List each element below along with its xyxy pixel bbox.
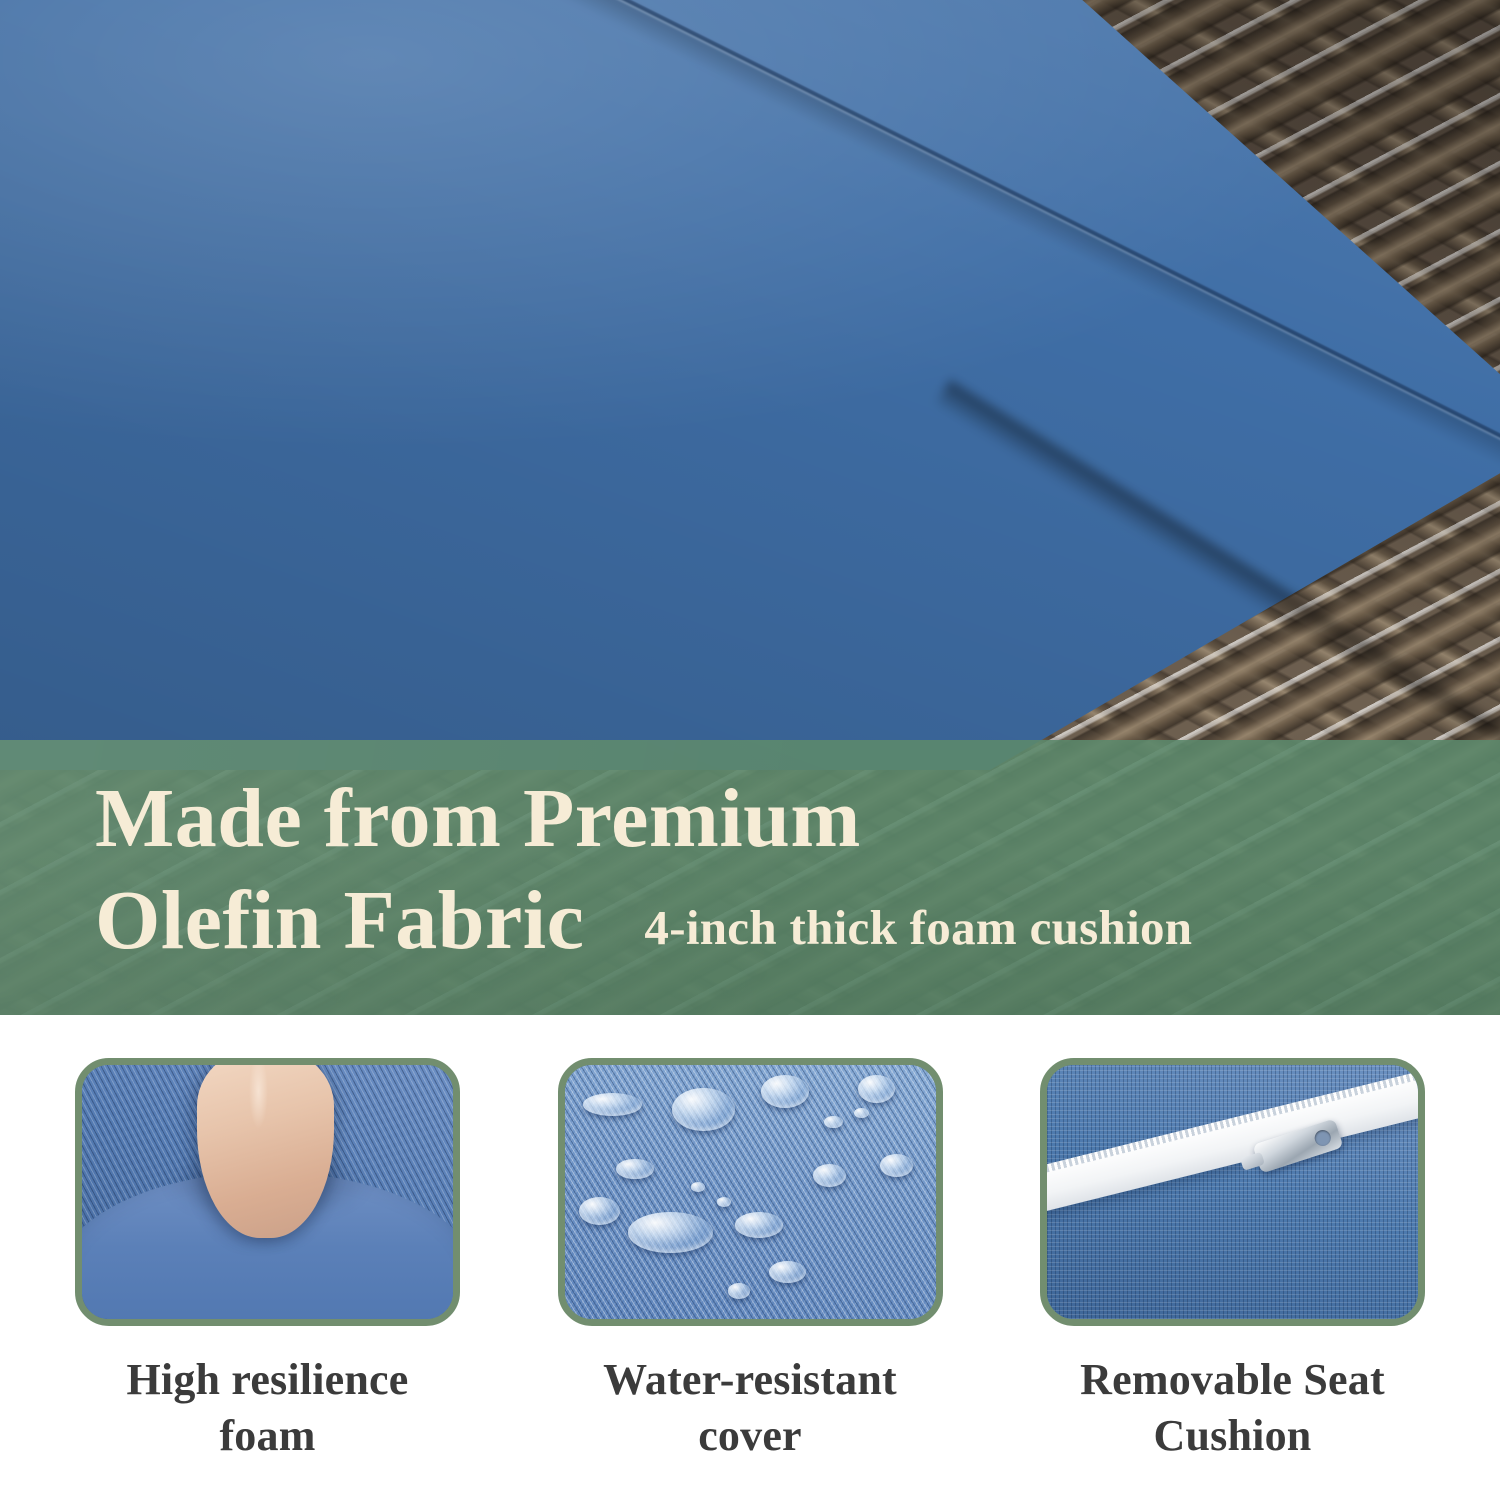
thumbnail-zipper-cover <box>1040 1058 1425 1326</box>
water-droplet-icon <box>813 1164 846 1187</box>
caption-line-2: cover <box>558 1408 943 1464</box>
water-droplet-icon <box>880 1154 913 1177</box>
feature-card-high-resilience-foam: High resilience foam <box>75 1058 460 1465</box>
water-droplet-icon <box>672 1088 735 1131</box>
banner-text-block: Made from Premium Olefin Fabric 4-inch t… <box>95 768 1435 973</box>
headline-line-1: Made from Premium <box>95 768 1435 870</box>
headline-line-2: Olefin Fabric <box>95 870 584 972</box>
thumbnail-hand-pressing-foam <box>75 1058 460 1326</box>
water-droplet-icon <box>579 1197 620 1225</box>
water-droplet-icon <box>616 1159 653 1179</box>
feature-card-removable-seat-cushion: Removable Seat Cushion <box>1040 1058 1425 1465</box>
caption-removable-seat-cushion: Removable Seat Cushion <box>1040 1352 1425 1465</box>
hand-highlight <box>249 1058 268 1129</box>
product-feature-graphic: Made from Premium Olefin Fabric 4-inch t… <box>0 0 1500 1500</box>
water-droplet-icon <box>858 1075 895 1103</box>
water-droplet-icon <box>628 1212 713 1253</box>
caption-water-resistant-cover: Water-resistant cover <box>558 1352 943 1465</box>
hero-product-photo: Made from Premium Olefin Fabric 4-inch t… <box>0 0 1500 1015</box>
feature-cards-row: High resilience foam <box>75 1058 1425 1465</box>
caption-high-resilience-foam: High resilience foam <box>75 1352 460 1465</box>
caption-line-1: High resilience <box>75 1352 460 1408</box>
water-droplet-icon <box>735 1212 783 1237</box>
zipper-pull-hole <box>1312 1128 1332 1148</box>
caption-line-2: Cushion <box>1040 1408 1425 1464</box>
feature-cards-section: High resilience foam <box>0 1015 1500 1500</box>
caption-line-1: Removable Seat <box>1040 1352 1425 1408</box>
thumbnail-water-droplets <box>558 1058 943 1326</box>
water-droplet-icon <box>728 1283 750 1298</box>
water-droplet-icon <box>769 1261 806 1284</box>
water-droplet-icon <box>583 1093 642 1116</box>
headline-banner: Made from Premium Olefin Fabric 4-inch t… <box>0 740 1500 1015</box>
caption-line-2: foam <box>75 1408 460 1464</box>
caption-line-1: Water-resistant <box>558 1352 943 1408</box>
headline-row-2: Olefin Fabric 4-inch thick foam cushion <box>95 870 1435 972</box>
foam-thickness-subline: 4-inch thick foam cushion <box>644 899 1192 956</box>
feature-card-water-resistant-cover: Water-resistant cover <box>558 1058 943 1465</box>
